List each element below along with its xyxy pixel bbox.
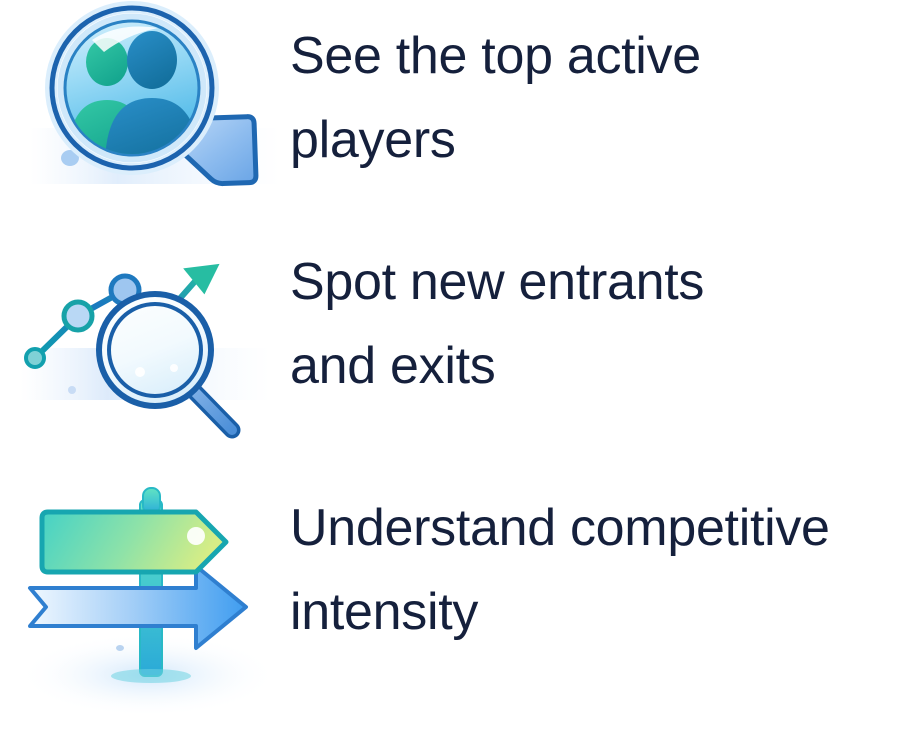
icon-cell bbox=[0, 0, 290, 230]
pole-base bbox=[111, 669, 191, 683]
feature-row: Understand competitive intensity bbox=[0, 480, 900, 729]
sign-highlight bbox=[187, 527, 205, 545]
magnifier-lens bbox=[99, 294, 211, 406]
feature-row: Spot new entrants and exits bbox=[0, 240, 900, 480]
signpost-arrows-icon bbox=[0, 480, 290, 720]
feature-label: Spot new entrants and exits bbox=[290, 240, 900, 408]
icon-cell bbox=[0, 240, 290, 470]
feature-label: Understand competitive intensity bbox=[290, 486, 900, 654]
feature-list: See the top active players bbox=[0, 0, 900, 729]
icon-cell bbox=[0, 480, 290, 710]
feature-label: See the top active players bbox=[290, 14, 900, 182]
trend-chart-magnifier-icon bbox=[0, 240, 290, 470]
decorative-dot bbox=[68, 386, 76, 394]
trend-arrow-head bbox=[177, 250, 220, 295]
feature-row: See the top active players bbox=[0, 0, 900, 240]
text-cell: See the top active players bbox=[290, 0, 900, 182]
magnifier-people-icon bbox=[0, 0, 290, 230]
decorative-dot bbox=[116, 645, 124, 651]
text-cell: Understand competitive intensity bbox=[290, 480, 900, 654]
text-cell: Spot new entrants and exits bbox=[290, 240, 900, 408]
lens-highlight bbox=[135, 367, 145, 377]
